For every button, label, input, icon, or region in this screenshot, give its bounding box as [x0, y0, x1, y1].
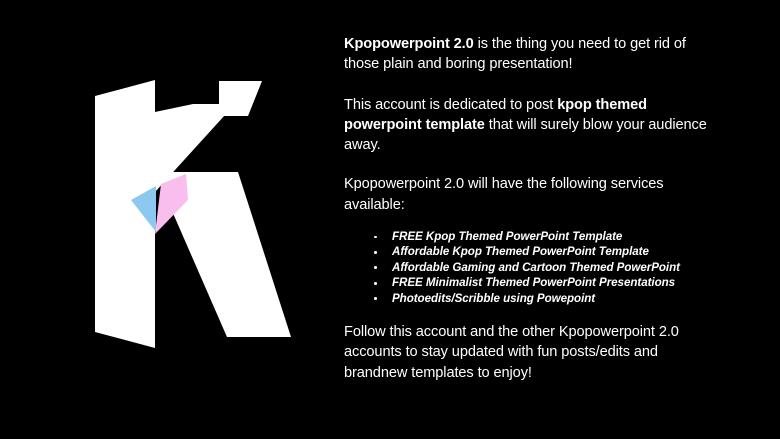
- description-text-column: Kpopowerpoint 2.0 is the thing you need …: [344, 34, 710, 383]
- services-list: FREE Kpop Themed PowerPoint Template Aff…: [344, 229, 710, 306]
- paragraph-services-intro: Kpopowerpoint 2.0 will have the followin…: [344, 174, 710, 215]
- logo-k-graphic: [0, 0, 330, 439]
- paragraph-intro-bold-lead: Kpopowerpoint 2.0: [344, 36, 474, 52]
- list-item: Photoedits/Scribble using Powepoint: [344, 291, 710, 306]
- spacer-2: [344, 155, 710, 174]
- list-item: FREE Kpop Themed PowerPoint Template: [344, 229, 710, 244]
- list-item: FREE Minimalist Themed PowerPoint Presen…: [344, 275, 710, 290]
- list-item: Affordable Gaming and Cartoon Themed Pow…: [344, 260, 710, 275]
- slide-canvas: Kpopowerpoint 2.0 is the thing you need …: [0, 0, 780, 439]
- kpopowerpoint-logo: [0, 0, 330, 439]
- spacer-3: [344, 215, 710, 229]
- spacer-4: [344, 306, 710, 322]
- list-item: Affordable Kpop Themed PowerPoint Templa…: [344, 244, 710, 259]
- paragraph-account-purpose: This account is dedicated to post kpop t…: [344, 95, 710, 156]
- paragraph-intro: Kpopowerpoint 2.0 is the thing you need …: [344, 34, 710, 75]
- paragraph-account-part-1: This account is dedicated to post: [344, 97, 557, 113]
- k-tick-mark-shape: [219, 81, 262, 116]
- spacer-1: [344, 75, 710, 95]
- paragraph-call-to-action: Follow this account and the other Kpopow…: [344, 322, 710, 383]
